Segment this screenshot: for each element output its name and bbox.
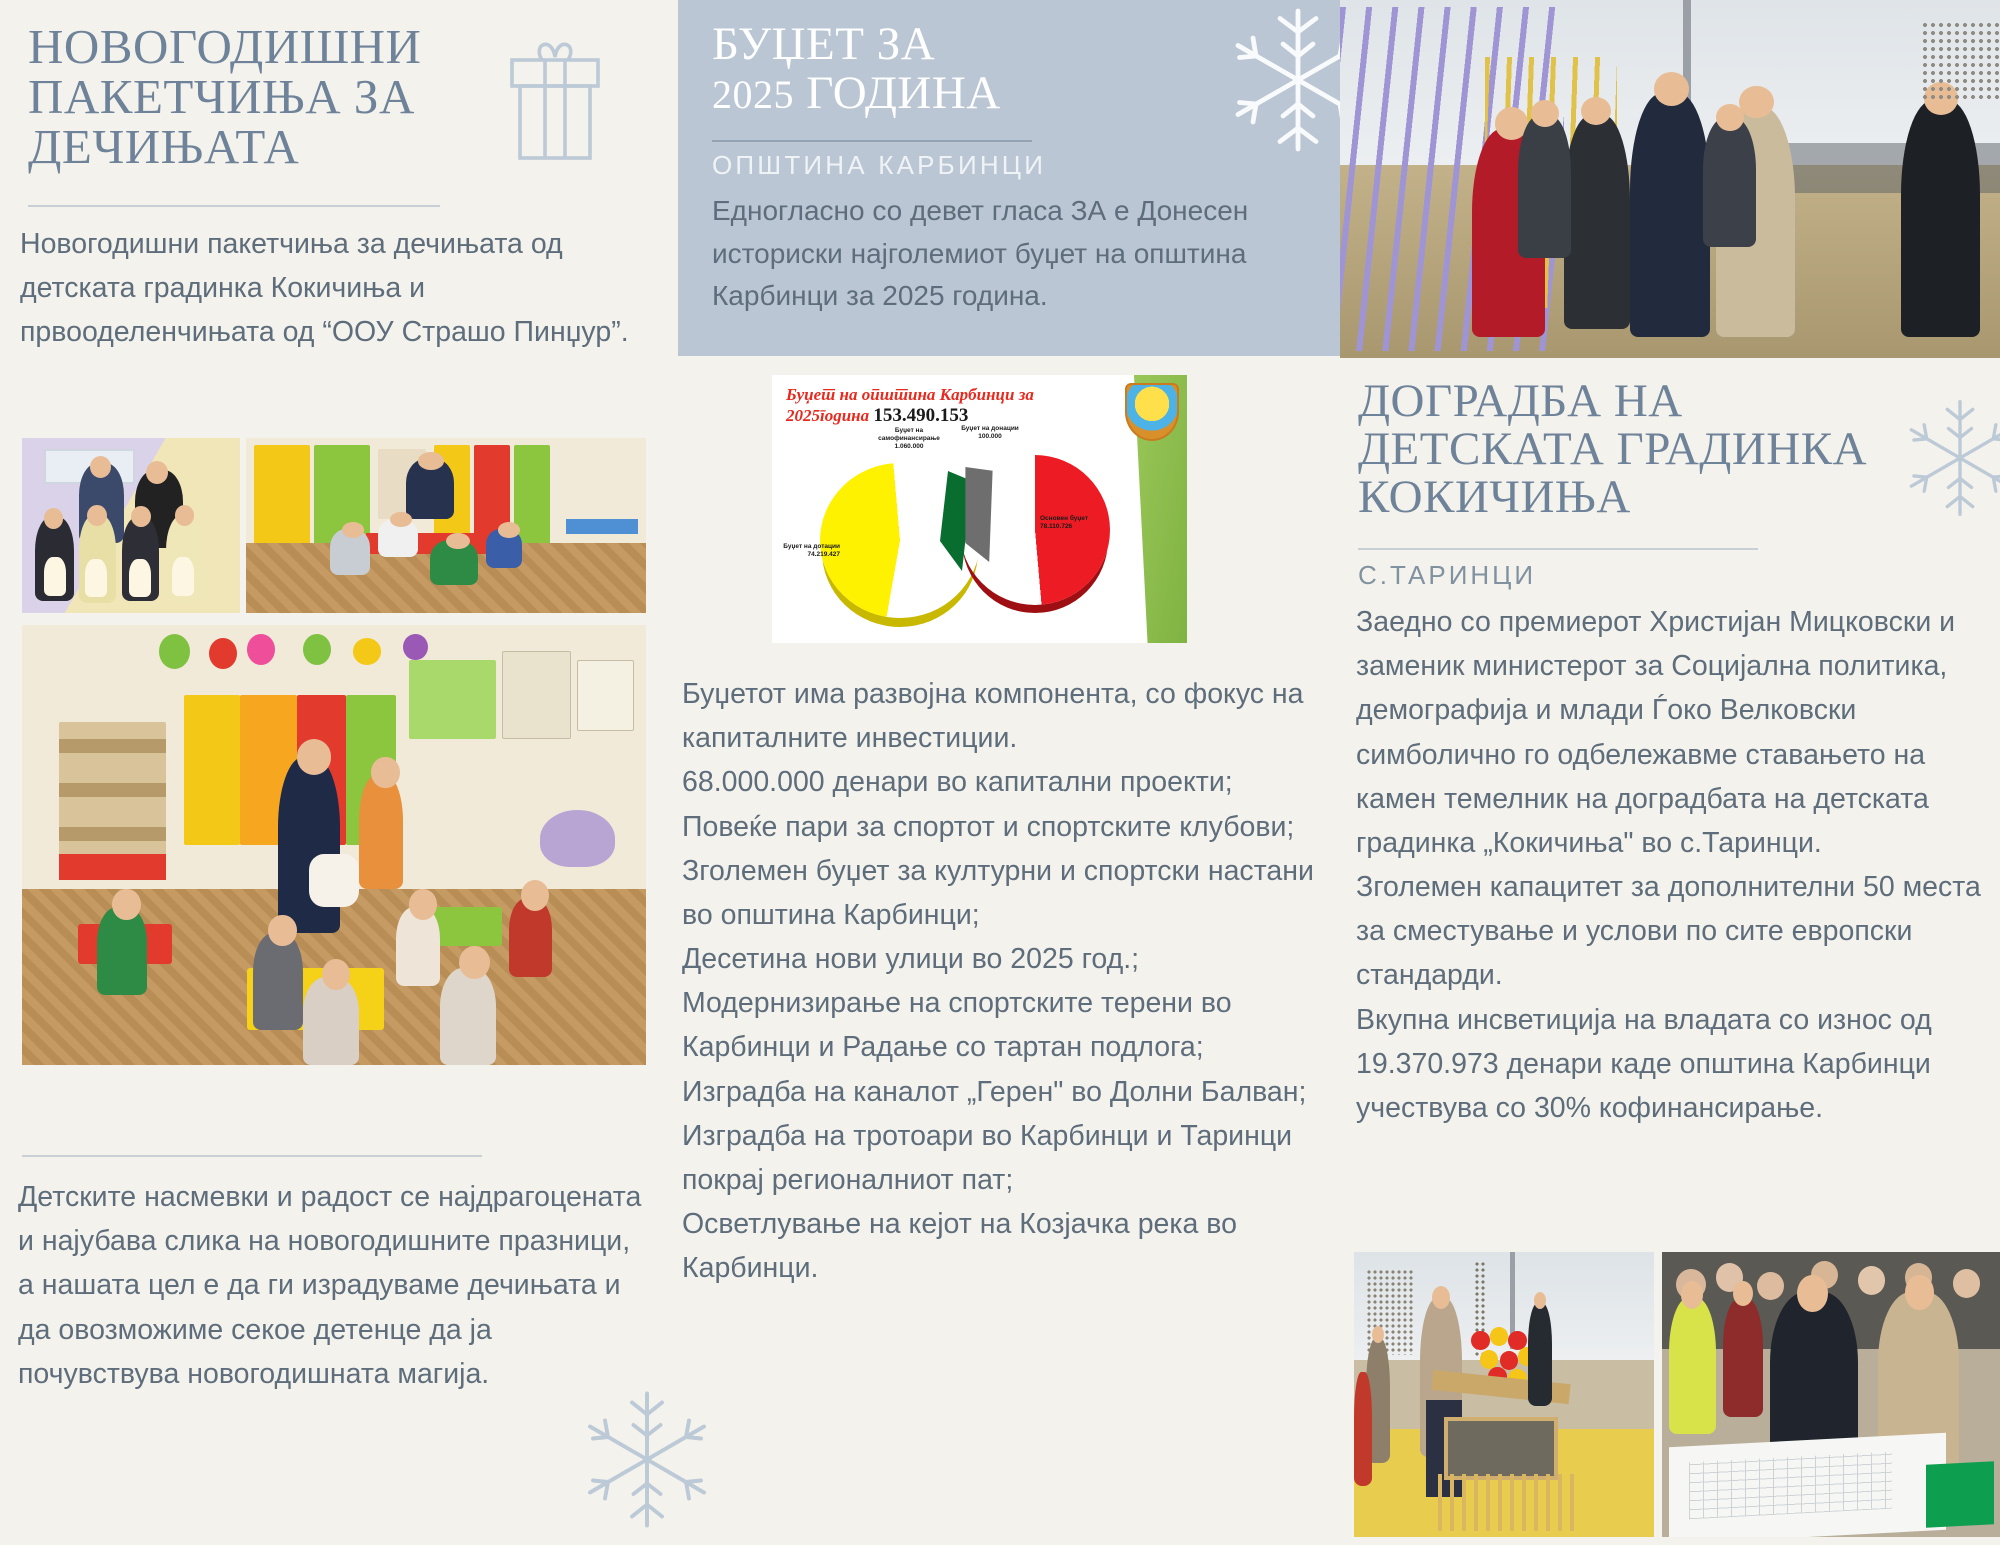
photo-classroom-handout [246,438,646,613]
right-paragraph: Зголемен капацитет за дополнителни 50 ме… [1356,865,2000,998]
budget-title-line1: БУЏЕТ ЗА [712,18,935,70]
municipality-crest-icon [1125,383,1179,441]
budget-pie-chart: Буџет на општина Карбинци за 2025година … [772,375,1187,643]
budget-lead-text: Едногласно со девет гласа ЗА е Донесен и… [712,190,1322,318]
chart-total-value: 153.490.153 [873,405,968,426]
pie-graphic [812,453,1112,628]
left-outro-divider [22,1155,482,1157]
right-body-text: Заедно со премиерот Христијан Мицковски … [1356,600,2000,1130]
budget-bullet: Буџетот има развојна компонента, со фоку… [682,672,1342,760]
newsletter-page: НОВОГОДИШНИ ПАКЕТЧИЊА ЗА ДЕЧИЊАТА Нового… [0,0,2000,1545]
middle-column: БУЏЕТ ЗА 2025 ГОДИНА ОПШТИНА КАРБИНЦИ Ед… [660,0,1340,1545]
budget-title: БУЏЕТ ЗА 2025 ГОДИНА [712,20,1142,118]
budget-title-line2: ГОДИНА [806,67,1001,119]
snowflake-icon [1896,388,2000,528]
right-paragraph: Заедно со премиерот Христијан Мицковски … [1356,600,2000,865]
budget-title-divider [712,140,1032,142]
budget-bullet: Зголемен буџет за културни и спортски на… [682,849,1342,937]
budget-subtitle: ОПШТИНА КАРБИНЦИ [712,150,1046,181]
left-column: НОВОГОДИШНИ ПАКЕТЧИЊА ЗА ДЕЧИЊАТА Нового… [0,0,660,1545]
budget-title-year: 2025 [712,72,794,117]
right-subtitle: С.ТАРИНЦИ [1358,560,1536,591]
left-intro-text: Новогодишни пакетчиња за дечињата од дет… [20,222,645,355]
left-column-title: НОВОГОДИШНИ ПАКЕТЧИЊА ЗА ДЕЧИЊАТА [28,22,448,172]
left-title-divider [28,205,440,207]
budget-body-text: Буџетот има развојна компонента, со фоку… [682,672,1342,1290]
pie-label-samofinansiranje: Буџет на самофинансирање 1.060.000 [870,427,948,451]
budget-bullet: Изградба на тротоари во Карбинци и Тарин… [682,1114,1342,1202]
photo-kindergarten-large [22,625,646,1065]
right-paragraph: Вкупна инсветиција на владата со износ о… [1356,998,2000,1131]
budget-bullet: Десетина нови улици во 2025 год.; [682,937,1342,981]
pie-label-osnoven: Основен буџет 78.110.726 [1040,515,1112,531]
left-outro-text: Детските насмевки и радост се најдрагоце… [18,1175,648,1396]
right-column: ДОГРАДБА НА ДЕТСКАТА ГРАДИНКА КОКИЧИЊА С… [1340,0,2000,1545]
budget-bullet: 68.000.000 денари во капитални проекти; [682,760,1342,804]
photo-foundation-stone [1354,1252,1654,1537]
gift-icon [490,30,620,170]
budget-bullet: Изградба на каналот „Герен" во Долни Бал… [682,1070,1342,1114]
right-title-divider [1358,548,1758,550]
photo-kids-with-gifts [22,438,240,613]
budget-header-panel: БУЏЕТ ЗА 2025 ГОДИНА ОПШТИНА КАРБИНЦИ Ед… [678,0,1340,356]
pie-label-donacii: Буџет на донации 100.000 [954,425,1026,441]
pie-label-dotacii: Буџет на дотации 74.219.427 [778,543,840,559]
photo-delegation-walk [1340,0,2000,358]
chart-title: Буџет на општина Карбинци за 2025година … [786,385,1116,426]
photo-reviewing-plans [1662,1252,2000,1537]
budget-bullet: Повеќе пари за спортот и спортските клуб… [682,805,1342,849]
right-column-title: ДОГРАДБА НА ДЕТСКАТА ГРАДИНКА КОКИЧИЊА [1358,378,1918,522]
budget-bullet: Модернизирање на спортските терени во Ка… [682,981,1342,1069]
budget-bullet: Осветлување на кејот на Козјачка река во… [682,1202,1342,1290]
